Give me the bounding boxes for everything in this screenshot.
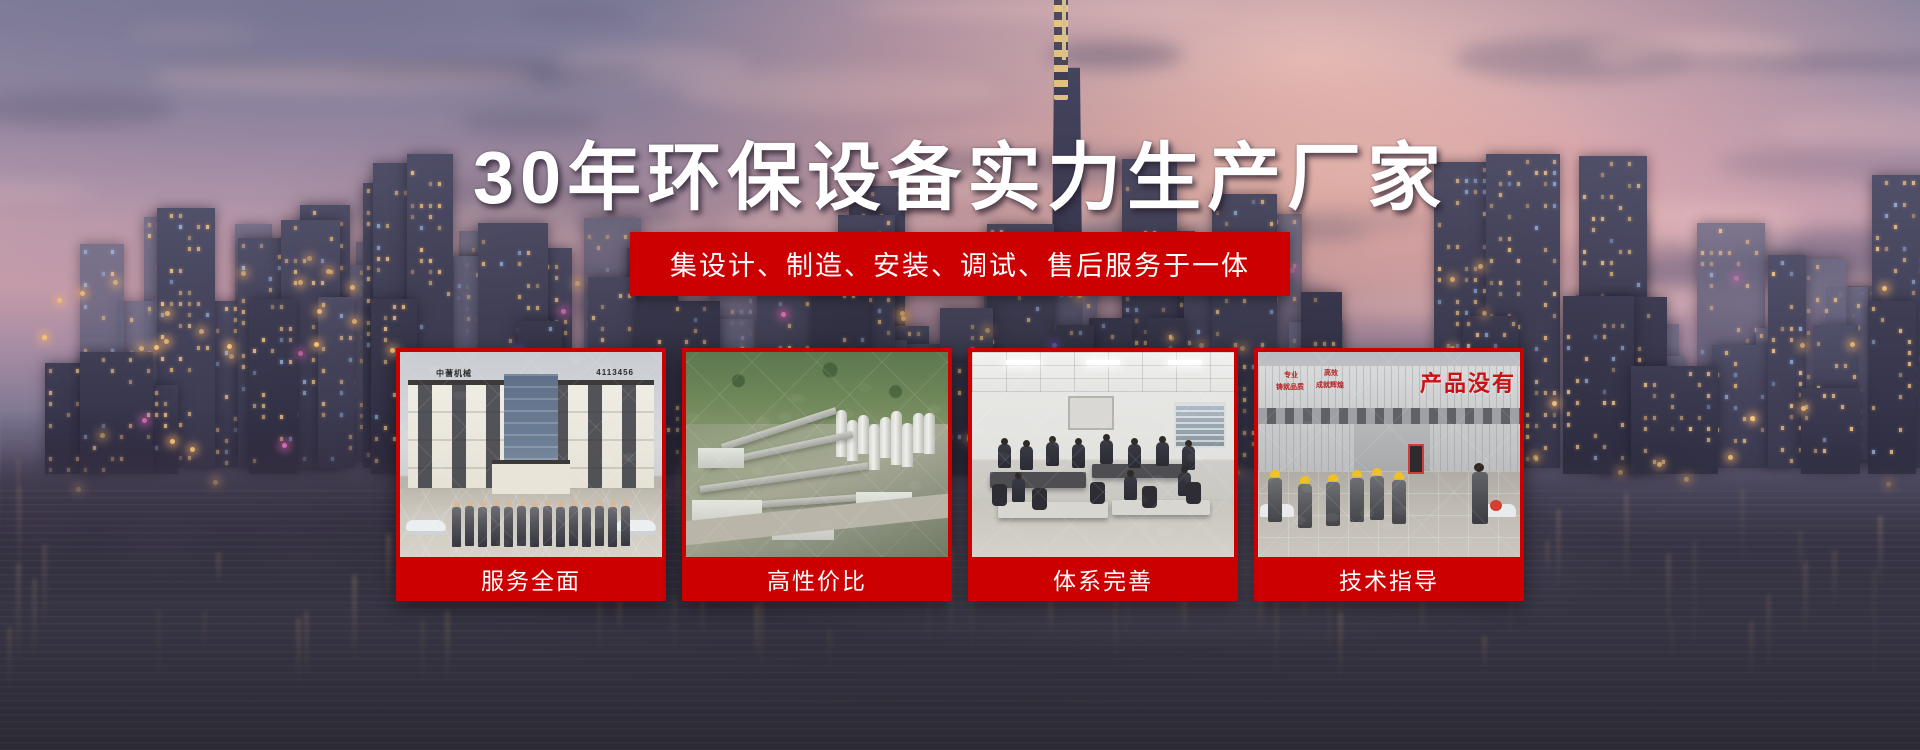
- feature-card[interactable]: 高性价比: [682, 348, 952, 601]
- subtitle-banner: 集设计、制造、安装、调试、售后服务于一体: [630, 232, 1290, 296]
- feature-card-caption: 服务全面: [400, 557, 662, 601]
- factory-workers-training-photo: 产品没有 专业 铸就品质 高效 成就辉煌: [1258, 352, 1520, 557]
- office-interior-meeting-photo: [972, 352, 1234, 557]
- feature-card[interactable]: 产品没有 专业 铸就品质 高效 成就辉煌 技术指导: [1254, 348, 1524, 601]
- page-title: 30年环保设备实力生产厂家: [0, 118, 1920, 225]
- banner-content: 30年环保设备实力生产厂家 集设计、制造、安装、调试、售后服务于一体 中蓍机械 …: [0, 0, 1920, 750]
- feature-card[interactable]: 中蓍机械 4113456 服务全面: [396, 348, 666, 601]
- photo-slogan-2: 高效: [1324, 370, 1338, 379]
- photo-factory-sign: 产品没有: [1420, 366, 1516, 398]
- aerial-industrial-plant-photo: [686, 352, 948, 557]
- company-office-building-staff-photo: 中蓍机械 4113456: [400, 352, 662, 557]
- feature-card-caption: 技术指导: [1258, 557, 1520, 601]
- photo-phone-number: 4113456: [596, 368, 634, 377]
- photo-slogan-2b: 成就辉煌: [1316, 382, 1344, 391]
- photo-company-sign: 中蓍机械: [436, 368, 472, 379]
- feature-card-caption: 高性价比: [686, 557, 948, 601]
- feature-card-caption: 体系完善: [972, 557, 1234, 601]
- hero-banner: 30年环保设备实力生产厂家 集设计、制造、安装、调试、售后服务于一体 中蓍机械 …: [0, 0, 1920, 750]
- feature-card-list: 中蓍机械 4113456 服务全面: [0, 348, 1920, 601]
- photo-slogan-1b: 铸就品质: [1276, 384, 1304, 393]
- subtitle-wrapper: 集设计、制造、安装、调试、售后服务于一体: [0, 232, 1920, 296]
- feature-card[interactable]: 体系完善: [968, 348, 1238, 601]
- photo-slogan-1: 专业: [1284, 372, 1298, 381]
